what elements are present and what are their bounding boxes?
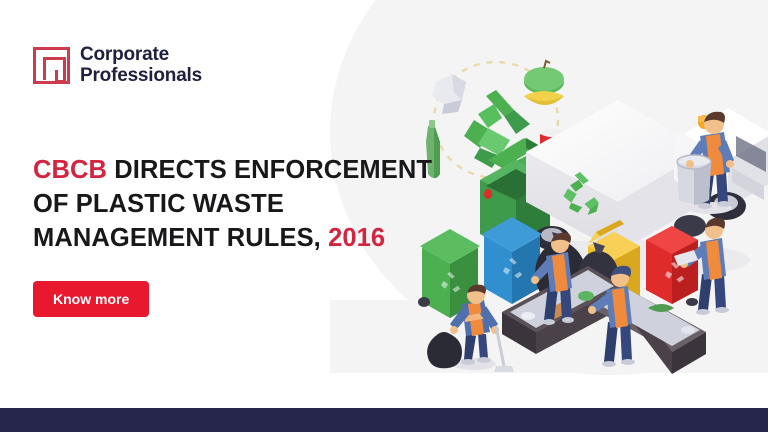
banana-icon [524,91,564,105]
metal-trash-can [677,155,711,205]
bin-wheel [686,298,698,306]
bin-wheel [418,297,430,307]
footer-bar [0,408,768,432]
apple-icon [524,61,564,94]
garbage-bag [427,332,462,368]
brand-name-line1: Corporate [80,45,202,66]
know-more-button[interactable]: Know more [33,281,149,317]
headline-accent-start: CBCB [33,156,107,184]
corporate-professionals-logo-mark-icon [33,47,70,84]
headline-accent-year: 2016 [328,224,385,252]
plastic-waste-management-illustration [390,10,768,390]
green-item [578,291,594,301]
brand-name: Corporate Professionals [80,45,202,86]
logo-g-shape [43,57,66,80]
white-item [681,326,695,334]
paper-item [521,312,535,320]
red-wheelie-bin [646,226,698,306]
blue-wheelie-bin [482,217,542,304]
crumpled-paper-icon [432,74,466,114]
page-title: CBCB DIRECTS ENFORCEMENT OF PLASTIC WAST… [33,154,433,256]
promotional-banner: Corporate Professionals CBCB DIRECTS ENF… [0,0,768,432]
brand-logo[interactable]: Corporate Professionals [33,45,202,86]
broom-head [494,366,514,372]
brand-name-line2: Professionals [80,66,202,87]
